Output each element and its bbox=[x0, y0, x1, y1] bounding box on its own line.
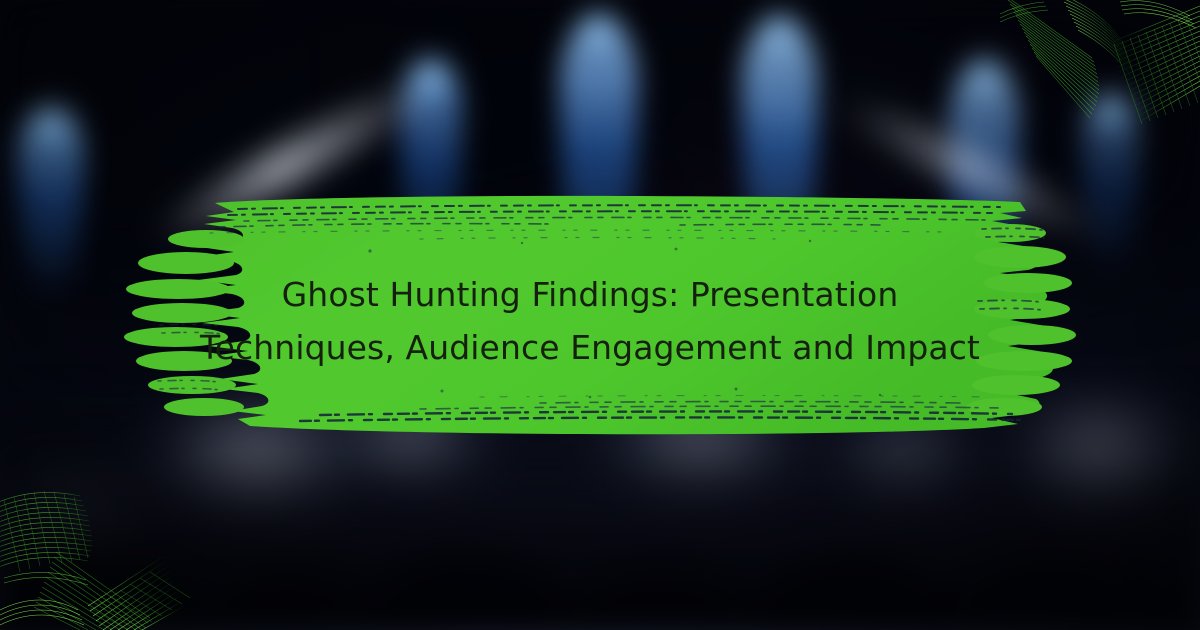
stage-light-beam bbox=[1082, 96, 1140, 276]
page-title: Ghost Hunting Findings: Presentation Tec… bbox=[160, 268, 1020, 374]
stage-light-beam bbox=[18, 110, 84, 300]
title-line-2: Techniques, Audience Engagement and Impa… bbox=[160, 321, 1020, 374]
title-line-1: Ghost Hunting Findings: Presentation bbox=[160, 268, 1020, 321]
share-card-canvas: Ghost Hunting Findings: Presentation Tec… bbox=[0, 0, 1200, 630]
